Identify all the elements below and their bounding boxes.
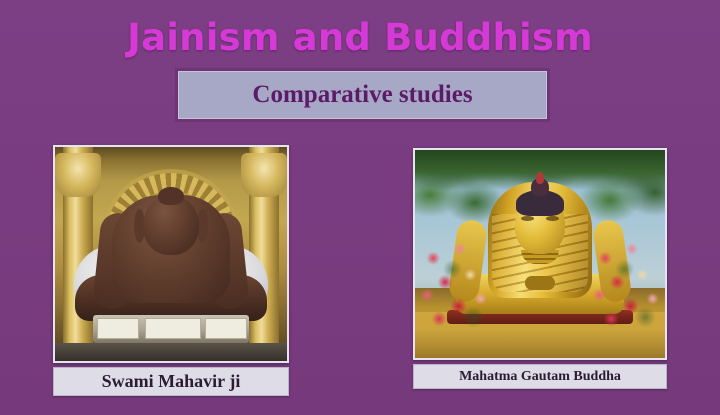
buddha-eyes [521, 216, 559, 222]
subtitle-banner: Comparative studies [175, 68, 550, 122]
image-buddha-statue [413, 148, 667, 360]
subtitle-text: Comparative studies [252, 81, 472, 109]
pedestal-base [55, 343, 287, 361]
figure-mahavir: Swami Mahavir ji [53, 145, 289, 396]
pillar-capital-left [55, 153, 101, 197]
caption-buddha: Mahatma Gautam Buddha [413, 364, 667, 389]
image-mahavir-statue [53, 145, 289, 363]
statue-hair-knot [158, 187, 184, 205]
figure-buddha: Mahatma Gautam Buddha [413, 148, 667, 389]
pedestal-plaque-left [97, 318, 139, 339]
flower-bouquet-left [417, 238, 491, 330]
pillar-capital-right [241, 153, 287, 197]
caption-mahavir: Swami Mahavir ji [53, 367, 289, 396]
pedestal-plaque-right [205, 318, 247, 339]
buddha-hands [525, 276, 555, 290]
pedestal-plaque-center [145, 318, 201, 339]
flower-bouquet-right [589, 238, 663, 330]
buddha-flame-finial [536, 172, 544, 184]
presentation-slide: Jainism and Buddhism Comparative studies [0, 0, 720, 415]
page-title: Jainism and Buddhism [0, 16, 720, 60]
